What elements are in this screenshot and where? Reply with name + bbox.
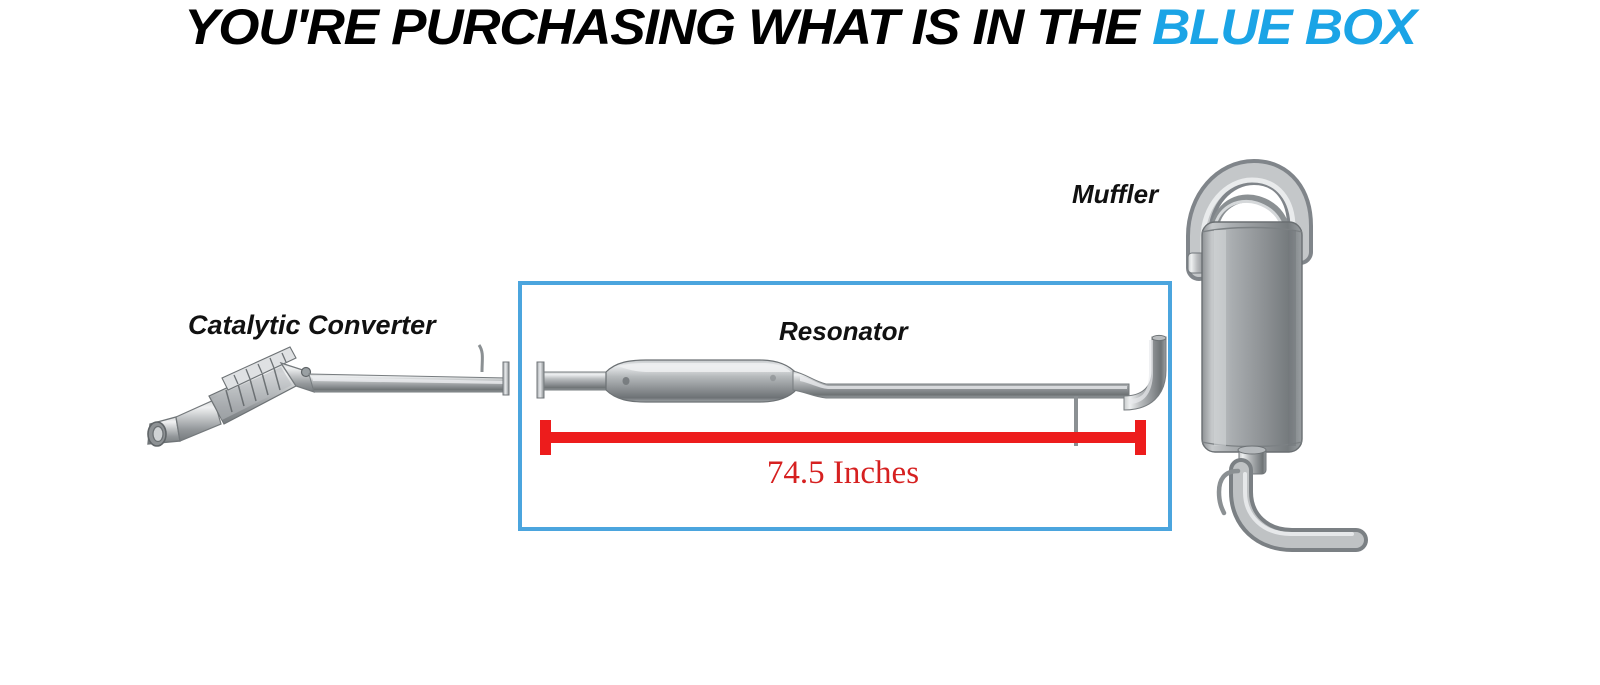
page-title: YOU'RE PURCHASING WHAT IS IN THE BLUE BO… bbox=[0, 0, 1600, 56]
headline-accent-text: BLUE BOX bbox=[1152, 0, 1416, 55]
label-catalytic-converter: Catalytic Converter bbox=[188, 310, 436, 341]
headline-base-text: YOU'RE PURCHASING WHAT IS IN THE bbox=[184, 0, 1138, 55]
exhaust-system-diagram: YOU'RE PURCHASING WHAT IS IN THE BLUE BO… bbox=[0, 0, 1600, 685]
label-resonator: Resonator bbox=[779, 316, 908, 347]
dimension-label: 74.5 Inches bbox=[540, 455, 1146, 492]
label-muffler: Muffler bbox=[1072, 179, 1158, 210]
dimension-line bbox=[540, 432, 1146, 443]
dimension-cap-left bbox=[540, 420, 551, 455]
dimension-cap-right bbox=[1135, 420, 1146, 455]
catalytic-converter-icon bbox=[148, 345, 509, 446]
muffler-icon bbox=[1188, 172, 1356, 540]
